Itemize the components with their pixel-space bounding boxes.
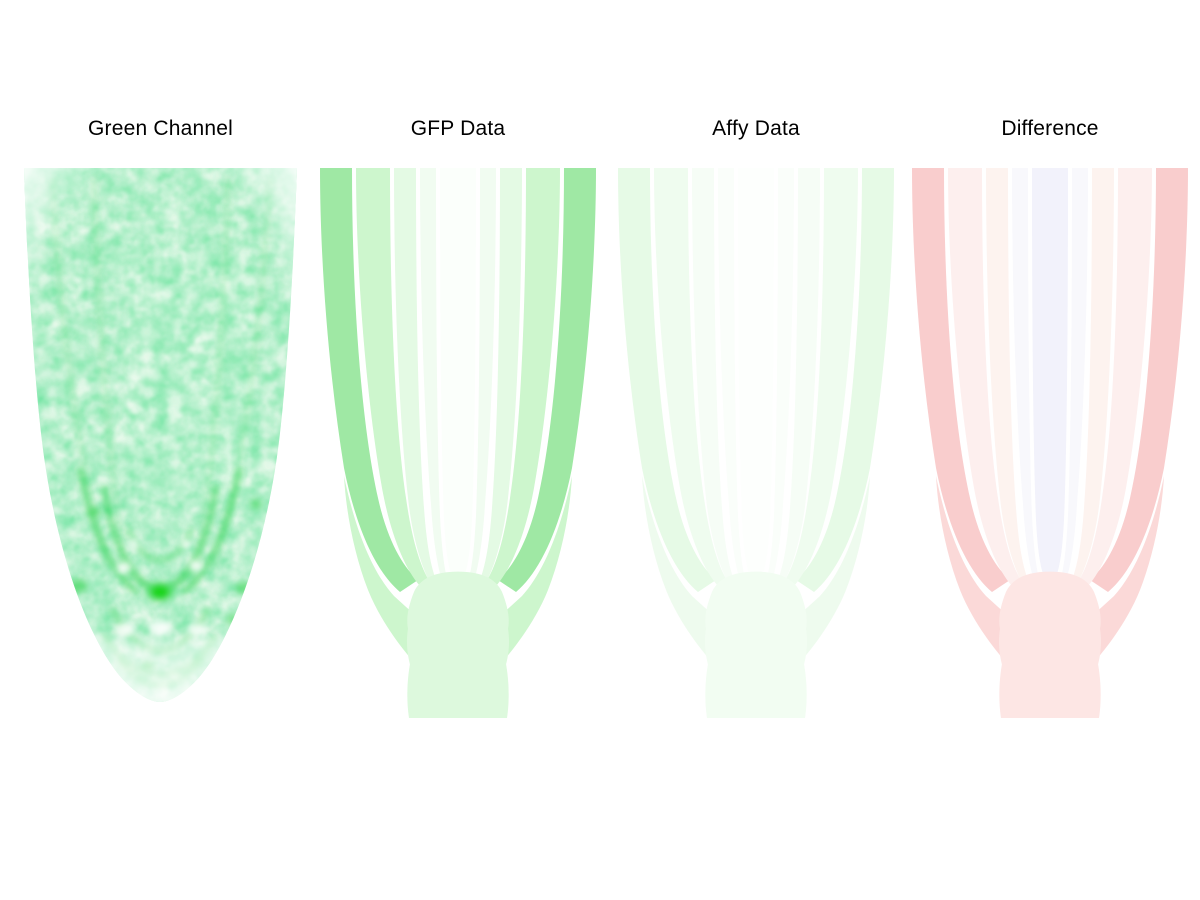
panel-title-gfp-data: GFP Data <box>308 118 608 139</box>
gfp-data-anatomy-map <box>308 168 608 718</box>
region-stele <box>440 168 476 588</box>
panel-affy-data: Affy Data <box>608 118 904 718</box>
panel-gfp-data: GFP Data <box>308 118 608 718</box>
region-stele <box>738 168 774 588</box>
panel-title-green-channel: Green Channel <box>8 118 313 139</box>
panel-canvas-difference <box>900 168 1200 718</box>
green-channel-image <box>8 168 313 718</box>
panel-canvas-green-channel <box>8 168 313 718</box>
region-root-tip <box>407 654 508 718</box>
panel-title-affy-data: Affy Data <box>608 118 904 139</box>
panel-green-channel: Green Channel <box>8 118 313 718</box>
panel-difference: Difference <box>900 118 1200 718</box>
region-root-tip <box>999 654 1100 718</box>
region-root-tip <box>705 654 806 718</box>
panel-canvas-affy-data <box>608 168 904 718</box>
affy-data-anatomy-map <box>608 168 904 718</box>
panel-title-difference: Difference <box>900 118 1200 139</box>
region-stele <box>1032 168 1068 588</box>
difference-anatomy-map <box>900 168 1200 718</box>
panel-canvas-gfp-data <box>308 168 608 718</box>
figure-root-tip-expression-comparison: Green Channel <box>0 0 1200 900</box>
